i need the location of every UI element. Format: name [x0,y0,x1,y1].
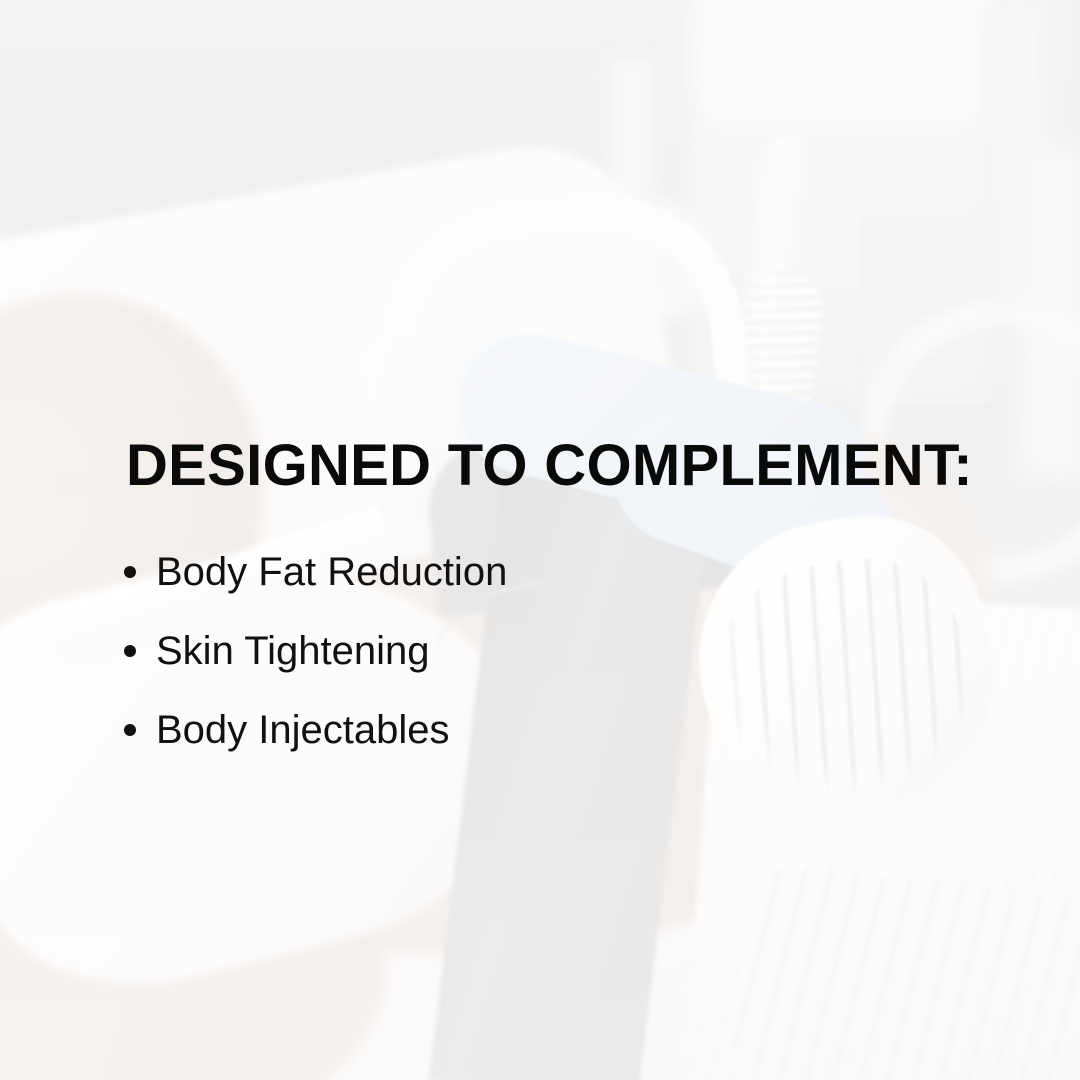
bullet-dot-icon [124,645,136,657]
list-item-label: Body Injectables [156,710,450,750]
page-title: DESIGNED TO COMPLEMENT: [126,437,973,495]
bullet-dot-icon [124,724,136,736]
list-item: Body Fat Reduction [124,532,507,611]
list-item-label: Body Fat Reduction [156,552,507,592]
promo-graphic-canvas: DESIGNED TO COMPLEMENT: Body Fat Reducti… [0,0,1080,1080]
list-item: Skin Tightening [124,611,507,690]
bullet-dot-icon [124,566,136,578]
list-item: Body Injectables [124,690,507,769]
text-overlay: DESIGNED TO COMPLEMENT: Body Fat Reducti… [0,0,1080,1080]
benefits-list: Body Fat Reduction Skin Tightening Body … [124,532,507,769]
list-item-label: Skin Tightening [156,631,430,671]
